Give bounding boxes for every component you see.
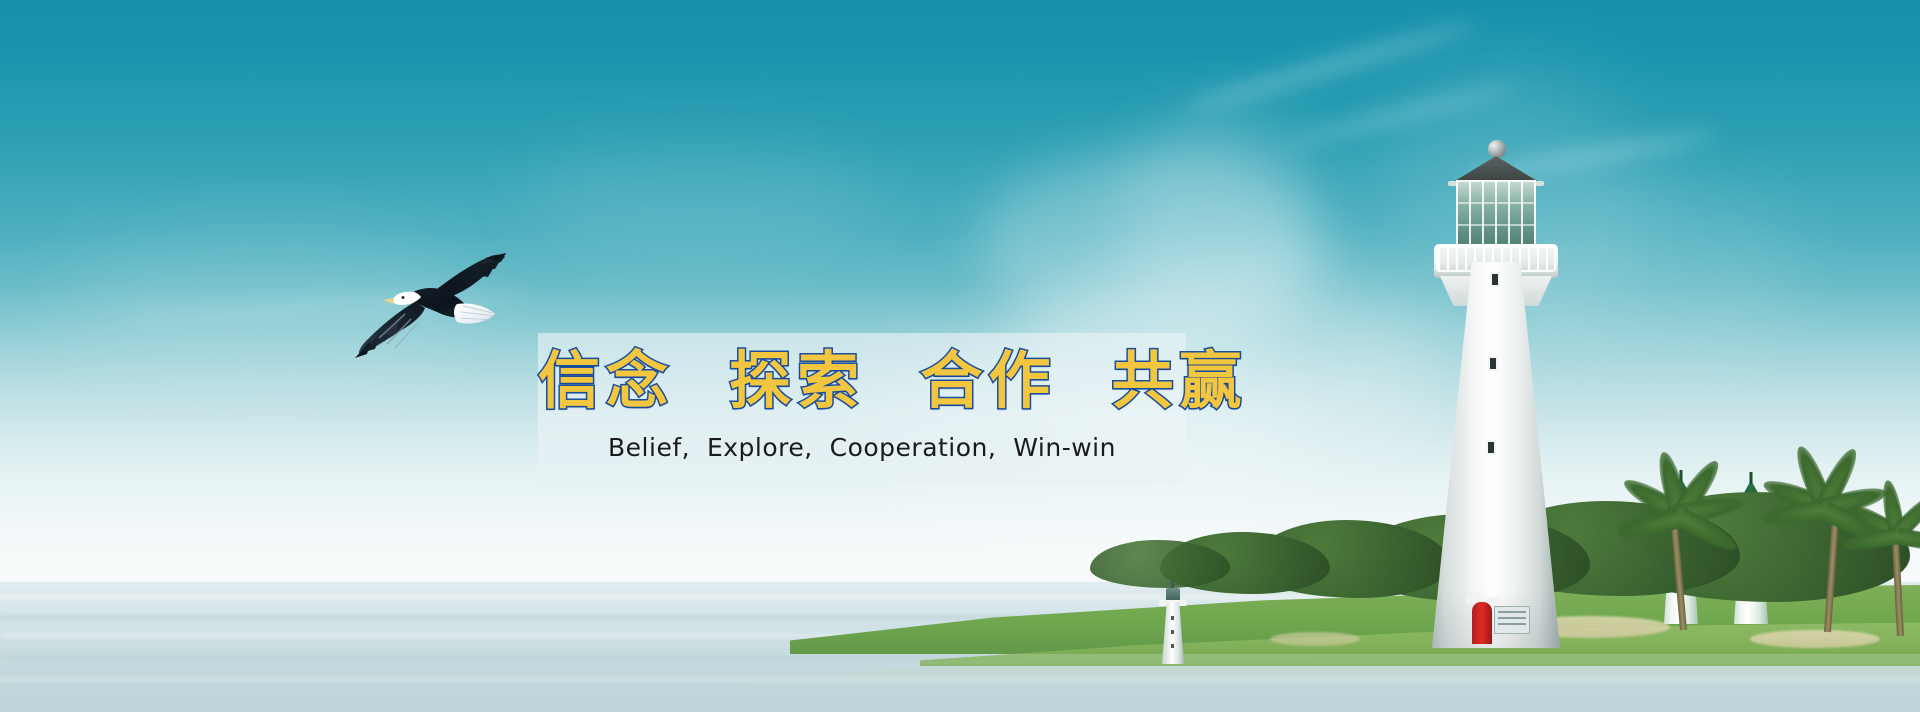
sand-patch bbox=[1270, 632, 1360, 646]
lighthouse-door bbox=[1472, 602, 1492, 644]
distant-lighthouse bbox=[1162, 586, 1184, 664]
lighthouse-window bbox=[1490, 272, 1500, 287]
slogan-english: Belief, Explore, Cooperation, Win-win bbox=[538, 433, 1186, 462]
slogan-chinese: 信念 探索 合作 共赢 bbox=[538, 339, 1186, 423]
lighthouse-lantern-room bbox=[1456, 180, 1536, 248]
lighthouse-finial bbox=[1488, 140, 1506, 158]
palm-tree bbox=[1638, 498, 1722, 630]
lighthouse-window bbox=[1488, 356, 1498, 371]
hero-banner-image: 信念 探索 合作 共赢 Belief, Explore, Cooperation… bbox=[0, 0, 1920, 712]
lighthouse-window bbox=[1486, 440, 1496, 455]
eagle-icon bbox=[345, 240, 515, 370]
main-lighthouse bbox=[1432, 148, 1560, 648]
palm-tree bbox=[1862, 520, 1920, 636]
slogan-panel: 信念 探索 合作 共赢 Belief, Explore, Cooperation… bbox=[538, 333, 1186, 485]
sand-patch bbox=[1750, 630, 1880, 648]
lighthouse-plaque bbox=[1494, 606, 1530, 634]
